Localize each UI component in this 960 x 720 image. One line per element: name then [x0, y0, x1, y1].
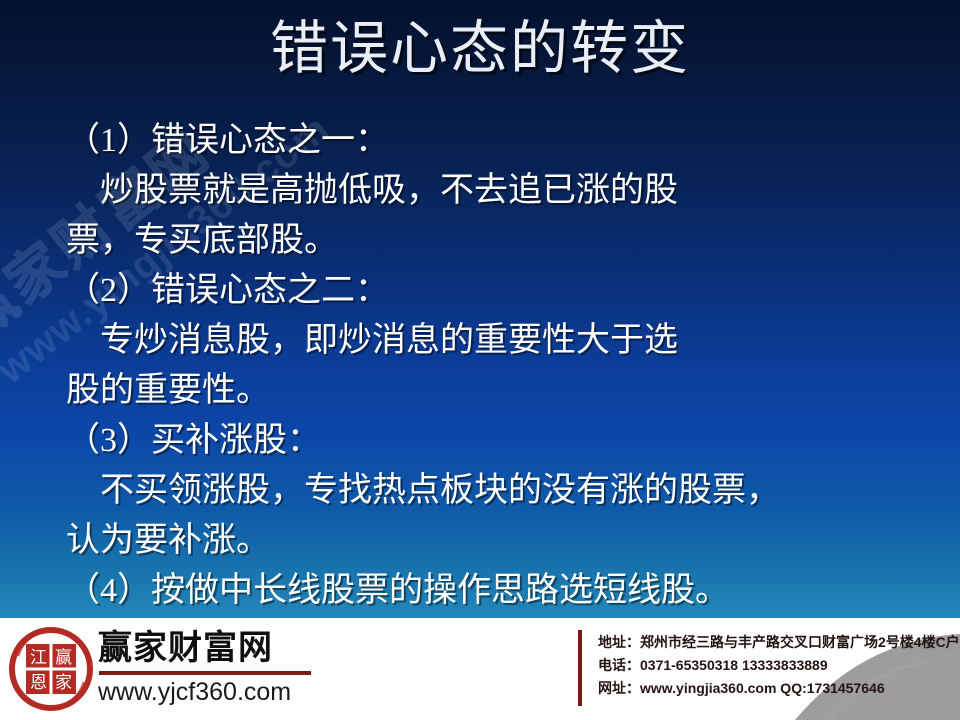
footer-vertical-divider: [578, 630, 582, 706]
seal-char-bottom-left: 恩: [30, 673, 47, 692]
seal-logo: 江 赢 恩 家: [8, 626, 94, 712]
contact-label-website: 网址：: [598, 680, 640, 696]
contact-row-phone: 电话：0371-65350318 13333833889: [598, 654, 958, 677]
contact-row-address: 地址：郑州市经三路与丰产路交叉口财富广场2号楼4楼C户: [598, 631, 958, 654]
body-line: （3）买补涨股：: [66, 416, 896, 466]
slide-content-area: 赢家财富网 www.yingjia360.com 错误心态的转变 （1）错误心态…: [0, 0, 960, 618]
contact-value-address: 郑州市经三路与丰产路交叉口财富广场2号楼4楼C户: [640, 634, 960, 650]
brand-name: 赢家财富网: [98, 628, 338, 668]
contact-value-phone: 0371-65350318 13333833889: [640, 657, 828, 673]
body-line: 股的重要性。: [66, 366, 896, 416]
contact-value-website: www.yingjia360.com QQ:1731457646: [640, 680, 885, 696]
seal-char-bottom-right: 家: [55, 673, 72, 692]
body-line: 专炒消息股，即炒消息的重要性大于选: [66, 316, 896, 366]
body-line: （1）错误心态之一：: [66, 116, 896, 166]
brand-website: www.yjcf360.com: [98, 678, 338, 707]
seal-char-top-right: 赢: [55, 648, 72, 667]
body-line: 不买领涨股，专找热点板块的没有涨的股票，: [66, 466, 896, 516]
seal-icon: 江 赢 恩 家: [8, 626, 94, 712]
contact-label-address: 地址：: [598, 634, 640, 650]
contact-row-website: 网址：www.yingjia360.com QQ:1731457646: [598, 677, 958, 700]
slide-title: 错误心态的转变: [0, 14, 960, 84]
brand-divider: [99, 671, 311, 675]
slide-root: 赢家财富网 www.yingjia360.com 错误心态的转变 （1）错误心态…: [0, 0, 960, 720]
body-line: 炒股票就是高抛低吸，不去追已涨的股: [66, 166, 896, 216]
contact-label-phone: 电话：: [598, 657, 640, 673]
seal-char-top-left: 江: [30, 648, 47, 667]
body-line: （2）错误心态之二：: [66, 266, 896, 316]
body-line: 票，专买底部股。: [66, 216, 896, 266]
body-line: 认为要补涨。: [66, 516, 896, 566]
contact-block: 地址：郑州市经三路与丰产路交叉口财富广场2号楼4楼C户 电话：0371-6535…: [598, 631, 958, 700]
footer-bar: 江 赢 恩 家 赢家财富网 www.yjcf360.com 地址：郑州市经三路与…: [0, 618, 960, 720]
body-line: （4）按做中长线股票的操作思路选短线股。: [66, 566, 896, 616]
brand-block: 赢家财富网 www.yjcf360.com: [98, 628, 338, 707]
slide-body: （1）错误心态之一： 炒股票就是高抛低吸，不去追已涨的股 票，专买底部股。 （2…: [66, 116, 896, 616]
